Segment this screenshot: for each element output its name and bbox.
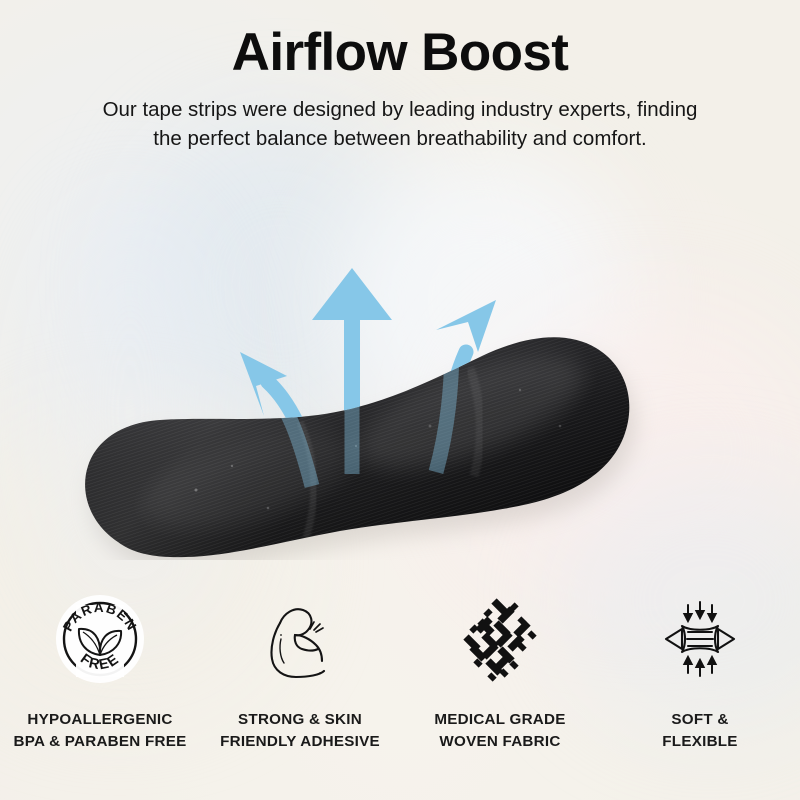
feature-label-line-1: HYPOALLERGENIC — [14, 709, 187, 731]
feature-item-soft-flexible[interactable]: SOFT & FLEXIBLE — [600, 585, 800, 752]
feature-item-hypoallergenic[interactable]: PARABEN FREE HYPOALLERGENIC BPA — [0, 585, 200, 752]
feature-label-line-2: BPA & PARABEN FREE — [14, 731, 187, 753]
feature-label-line-1: SOFT & — [662, 709, 737, 731]
left-arrow — [666, 629, 682, 649]
down-arrows — [684, 602, 715, 621]
feature-label-line-1: MEDICAL GRADE — [434, 709, 565, 731]
feature-label-line-2: WOVEN FABRIC — [434, 731, 565, 753]
product-airflow-svg — [0, 190, 800, 560]
right-arrow — [718, 629, 734, 649]
stretch-flexible-icon — [646, 589, 754, 689]
paraben-free-badge-icon: PARABEN FREE — [46, 585, 154, 693]
feature-label: MEDICAL GRADE WOVEN FABRIC — [434, 709, 565, 752]
feature-icon-wrap — [250, 585, 350, 693]
feature-icon-wrap: PARABEN FREE — [46, 585, 154, 693]
header: Airflow Boost Our tape strips were desig… — [0, 0, 800, 153]
feature-item-woven-fabric[interactable]: MEDICAL GRADE WOVEN FABRIC — [400, 585, 600, 752]
page-subtitle: Our tape strips were designed by leading… — [50, 95, 750, 153]
subtitle-line-2: the perfect balance between breathabilit… — [50, 124, 750, 153]
feature-label: SOFT & FLEXIBLE — [662, 709, 737, 752]
woven-fabric-icon — [450, 589, 550, 689]
feature-list: PARABEN FREE HYPOALLERGENIC BPA — [0, 585, 800, 752]
feature-label-line-2: FLEXIBLE — [662, 731, 737, 753]
product-illustration — [0, 190, 800, 560]
subtitle-line-1: Our tape strips were designed by leading… — [50, 95, 750, 124]
fabric-lines — [687, 632, 713, 646]
woven-texture — [0, 190, 800, 560]
up-arrows — [684, 657, 715, 676]
feature-icon-wrap — [646, 585, 754, 693]
feature-item-strong-adhesive[interactable]: STRONG & SKIN FRIENDLY ADHESIVE — [200, 585, 400, 752]
product-feature-graphic: Airflow Boost Our tape strips were desig… — [0, 0, 800, 800]
page-title: Airflow Boost — [0, 0, 800, 81]
flexed-bicep-icon — [250, 589, 350, 689]
feature-icon-wrap — [450, 585, 550, 693]
feature-label-line-2: FRIENDLY ADHESIVE — [220, 731, 380, 753]
tape-strip — [0, 190, 800, 560]
feature-label-line-1: STRONG & SKIN — [220, 709, 380, 731]
feature-label: STRONG & SKIN FRIENDLY ADHESIVE — [220, 709, 380, 752]
feature-label: HYPOALLERGENIC BPA & PARABEN FREE — [14, 709, 187, 752]
